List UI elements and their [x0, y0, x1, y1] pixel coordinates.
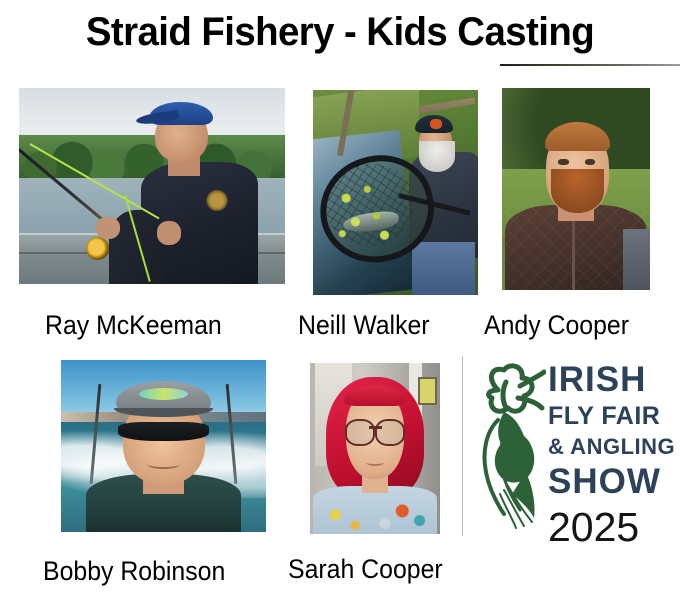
person-sleeve — [623, 229, 650, 290]
eyeglasses — [345, 419, 405, 441]
glasses-bridge — [369, 426, 382, 429]
logo-divider-rule — [462, 356, 463, 536]
person-mouth — [147, 460, 180, 469]
photo-sarah-cooper — [310, 363, 440, 534]
sunglasses — [118, 422, 208, 441]
title-divider-rule — [500, 64, 680, 66]
logo-line-irish: IRISH — [548, 362, 678, 397]
person-hand-left — [96, 217, 120, 239]
person-jeans — [412, 242, 475, 295]
photo-bobby-robinson — [61, 360, 266, 532]
floating-leaves — [333, 176, 399, 250]
cap-logo — [139, 388, 188, 400]
logo-year: 2025 — [548, 507, 678, 548]
caption-bobby-robinson: Bobby Robinson — [43, 556, 225, 587]
cap-badge — [430, 119, 442, 129]
wall-picture — [418, 377, 438, 405]
page-title: Straid Fishery - Kids Casting — [14, 8, 667, 56]
caption-neill-walker: Neill Walker — [298, 310, 430, 341]
gilet-zip — [572, 213, 575, 290]
floral-top — [313, 486, 438, 534]
person-hand-right — [157, 221, 181, 245]
photo-neill-walker — [313, 90, 478, 295]
red-beard — [551, 169, 604, 213]
poster-canvas: Straid Fishery - Kids Casting — [0, 0, 680, 600]
logo-line-fly-fair: FLY FAIR — [548, 404, 678, 429]
person-eye-left — [558, 159, 568, 165]
caption-andy-cooper: Andy Cooper — [484, 310, 629, 341]
white-beard — [419, 141, 455, 172]
person-mouth — [366, 459, 384, 466]
photo-andy-cooper — [502, 88, 650, 290]
shamrock-mayfly-icon — [468, 360, 546, 532]
person-eye-right — [585, 159, 595, 165]
irish-fly-fair-logo: IRISH FLY FAIR & ANGLING SHOW 2025 — [468, 358, 678, 536]
logo-line-show: SHOW — [548, 464, 678, 499]
logo-wordmark: IRISH FLY FAIR & ANGLING SHOW 2025 — [548, 362, 678, 548]
caption-sarah-cooper: Sarah Cooper — [288, 554, 443, 585]
photo-ray-mckeeman — [19, 88, 285, 284]
caption-ray-mckeeman: Ray McKeeman — [45, 310, 222, 341]
logo-line-angling: & ANGLING — [548, 436, 678, 458]
